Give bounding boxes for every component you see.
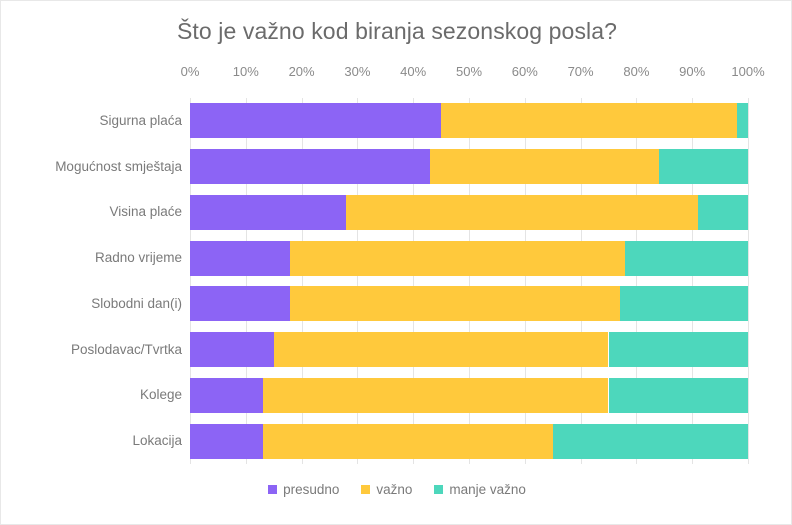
bar-segment[interactable]: [263, 378, 609, 413]
bar-segment[interactable]: [346, 195, 698, 230]
x-axis-tick-label: 70%: [568, 64, 594, 79]
x-axis-tick-label: 80%: [623, 64, 649, 79]
x-axis-tick-label: 50%: [456, 64, 482, 79]
bar-segment[interactable]: [659, 149, 748, 184]
y-axis-category-label: Kolege: [140, 387, 182, 403]
bar-segment[interactable]: [190, 424, 263, 459]
y-axis-category-label: Poslodavac/Tvrtka: [71, 342, 182, 358]
chart-container: Što je važno kod biranja sezonskog posla…: [0, 0, 792, 525]
bar-row[interactable]: [190, 424, 748, 459]
bar-row[interactable]: [190, 286, 748, 321]
bar-row[interactable]: [190, 332, 748, 367]
legend-item[interactable]: važno: [361, 482, 412, 497]
bar-segment[interactable]: [190, 286, 290, 321]
bar-segment[interactable]: [274, 332, 609, 367]
bar-segment[interactable]: [698, 195, 748, 230]
x-axis-tick-label: 20%: [289, 64, 315, 79]
bar-segment[interactable]: [609, 378, 749, 413]
bar-segment[interactable]: [290, 286, 619, 321]
bar-segment[interactable]: [441, 103, 737, 138]
chart-legend: presudnovažnomanje važno: [1, 482, 792, 497]
bar-row[interactable]: [190, 241, 748, 276]
bar-segment[interactable]: [553, 424, 748, 459]
legend-item[interactable]: manje važno: [434, 482, 526, 497]
legend-label: manje važno: [449, 482, 526, 497]
bar-segment[interactable]: [190, 378, 263, 413]
bar-segment[interactable]: [737, 103, 748, 138]
bar-segment[interactable]: [430, 149, 659, 184]
y-axis-category-label: Visina plaće: [109, 204, 182, 220]
bar-segment[interactable]: [190, 332, 274, 367]
bar-segment[interactable]: [620, 286, 748, 321]
y-axis-category-label: Sigurna plaća: [99, 113, 182, 129]
bar-segment[interactable]: [190, 241, 290, 276]
bar-segment[interactable]: [190, 103, 441, 138]
x-axis-tick-label: 60%: [512, 64, 538, 79]
legend-color-swatch: [268, 485, 277, 494]
bar-segment[interactable]: [290, 241, 625, 276]
x-axis-tick-label: 30%: [344, 64, 370, 79]
y-axis-category-labels: Sigurna plaćaMogućnost smještajaVisina p…: [1, 98, 182, 464]
bar-row[interactable]: [190, 149, 748, 184]
bar-segment[interactable]: [190, 195, 346, 230]
bar-segment[interactable]: [190, 149, 430, 184]
y-axis-category-label: Lokacija: [132, 433, 182, 449]
x-axis-tick-label: 90%: [679, 64, 705, 79]
bar-row[interactable]: [190, 195, 748, 230]
plot-area: [190, 98, 748, 464]
legend-item[interactable]: presudno: [268, 482, 339, 497]
y-axis-category-label: Slobodni dan(i): [91, 296, 182, 312]
chart-title: Što je važno kod biranja sezonskog posla…: [1, 18, 792, 45]
legend-label: važno: [376, 482, 412, 497]
x-axis-tick-label: 10%: [233, 64, 259, 79]
y-axis-category-label: Mogućnost smještaja: [55, 159, 182, 175]
bar-segment[interactable]: [625, 241, 748, 276]
legend-color-swatch: [434, 485, 443, 494]
bar-row[interactable]: [190, 103, 748, 138]
y-axis-category-label: Radno vrijeme: [95, 250, 182, 266]
x-axis-tick-label: 40%: [400, 64, 426, 79]
legend-label: presudno: [283, 482, 339, 497]
x-axis-tick-labels: 0%10%20%30%40%50%60%70%80%90%100%: [190, 64, 748, 82]
legend-color-swatch: [361, 485, 370, 494]
bar-segment[interactable]: [609, 332, 749, 367]
bar-segment[interactable]: [263, 424, 553, 459]
gridline: [748, 98, 749, 464]
bar-row[interactable]: [190, 378, 748, 413]
x-axis-tick-label: 0%: [181, 64, 200, 79]
x-axis-tick-label: 100%: [731, 64, 764, 79]
